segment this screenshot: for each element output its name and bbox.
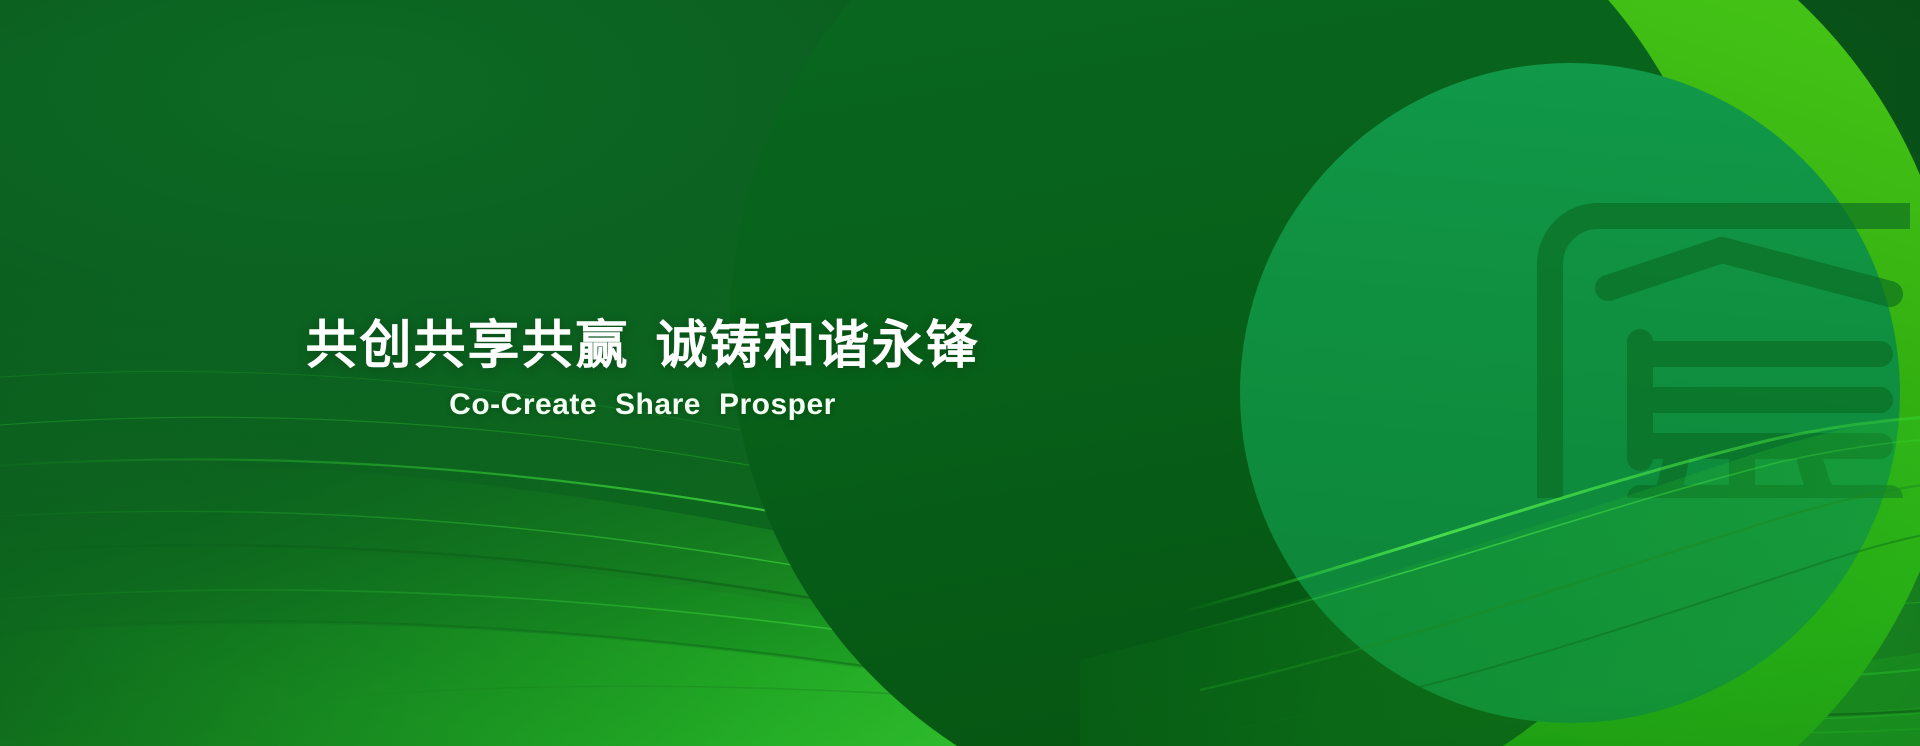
- headline-block: 共创共享共赢诚铸和谐永锋 Co-CreateShareProsper: [0, 318, 1285, 421]
- page-title: 共创共享共赢诚铸和谐永锋: [0, 318, 1285, 374]
- headline-cn-part1: 共创共享共赢: [305, 317, 629, 375]
- subtitle-word-co-create: Co-Create: [449, 388, 597, 421]
- subtitle-word-share: Share: [615, 388, 701, 421]
- subtitle-word-prosper: Prosper: [719, 388, 836, 421]
- hero-banner: 共创共享共赢诚铸和谐永锋 Co-CreateShareProsper: [0, 0, 1920, 746]
- headline-cn-part2: 诚铸和谐永锋: [656, 317, 980, 375]
- brand-watermark-logo: [1490, 168, 1910, 498]
- page-subtitle: Co-CreateShareProsper: [0, 388, 1285, 421]
